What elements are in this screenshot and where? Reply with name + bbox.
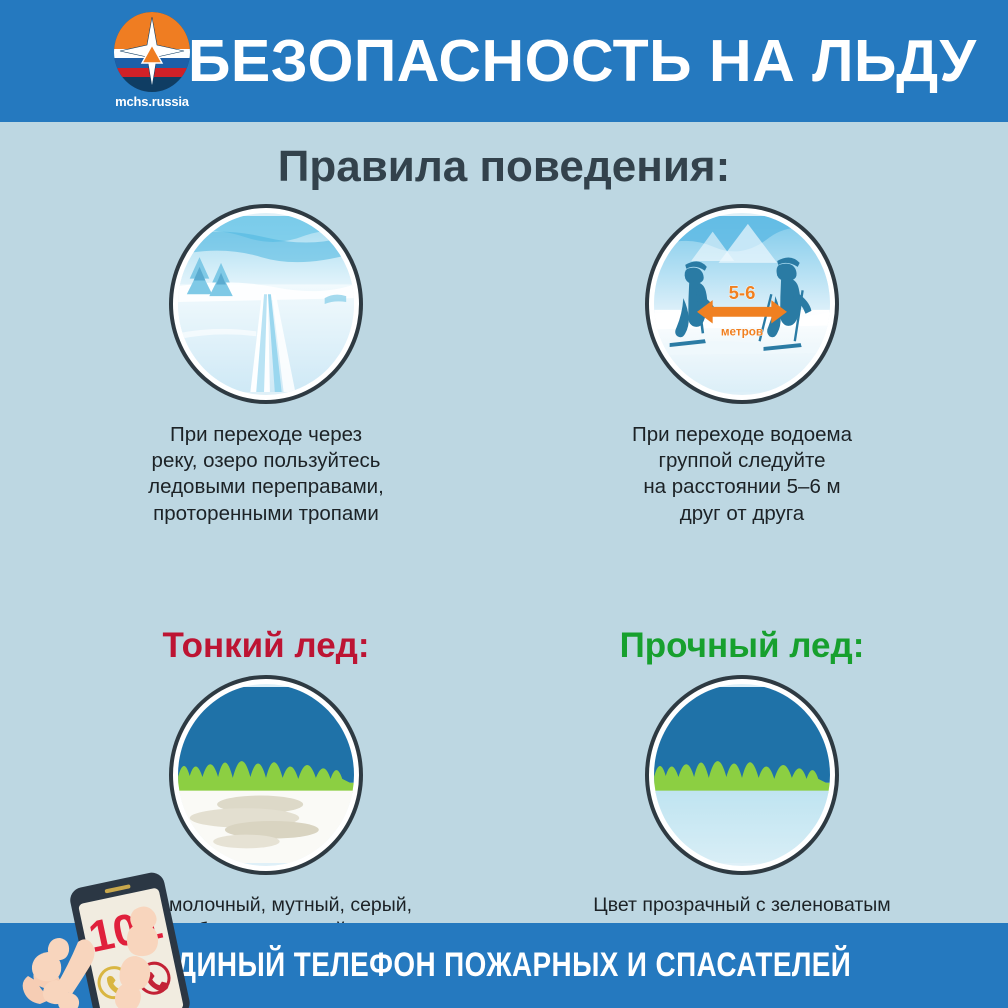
main-content: Правила поведения: [0,122,1008,923]
page-footer: ЕДИНЫЙ ТЕЛЕФОН ПОЖАРНЫХ И СПАСАТЕЛЕЙ [0,923,1008,1008]
rules-row: При переходе через реку, озеро пользуйте… [0,208,1008,527]
strong-ice-heading: Прочный лед: [620,628,865,663]
emercom-star-emblem-icon [114,12,190,92]
thin-ice-milky-photo-icon [173,679,359,871]
rule-caption: При переходе через реку, озеро пользуйте… [148,422,384,527]
svg-text:метров: метров [721,325,763,338]
svg-text:5-6: 5-6 [729,282,756,303]
logo-star-icon [118,15,186,89]
page-title: БЕЗОПАСНОСТЬ НА ЛЬДУ [188,27,977,95]
page-header: mchs.russia БЕЗОПАСНОСТЬ НА ЛЬДУ [0,0,1008,122]
thin-ice-heading: Тонкий лед: [162,628,369,663]
ice-types-row: Тонкий лед: Цвет молочный, мутный, серый… [0,628,1008,943]
section-heading: Правила поведения: [0,142,1008,192]
emergency-phone-text: ЕДИНЫЙ ТЕЛЕФОН ПОЖАРНЫХ И СПАСАТЕЛЕЙ [157,946,851,985]
rule-card-group-distance: 5-6 метров При переходе водоема группой … [577,208,907,527]
rule-caption: При переходе водоема группой следуйте на… [632,422,852,527]
logo-caption: mchs.russia [115,94,189,109]
two-skiers-distance-photo-icon: 5-6 метров [649,208,835,400]
strong-ice-transparent-photo-icon [649,679,835,871]
rule-card-crossing: При переходе через реку, озеро пользуйте… [101,208,431,527]
ice-card-strong: Прочный лед: Цвет прозрачный с зеленоват [577,628,907,943]
winter-ski-track-photo-icon [173,208,359,400]
ice-card-thin: Тонкий лед: Цвет молочный, мутный, серый… [101,628,431,943]
